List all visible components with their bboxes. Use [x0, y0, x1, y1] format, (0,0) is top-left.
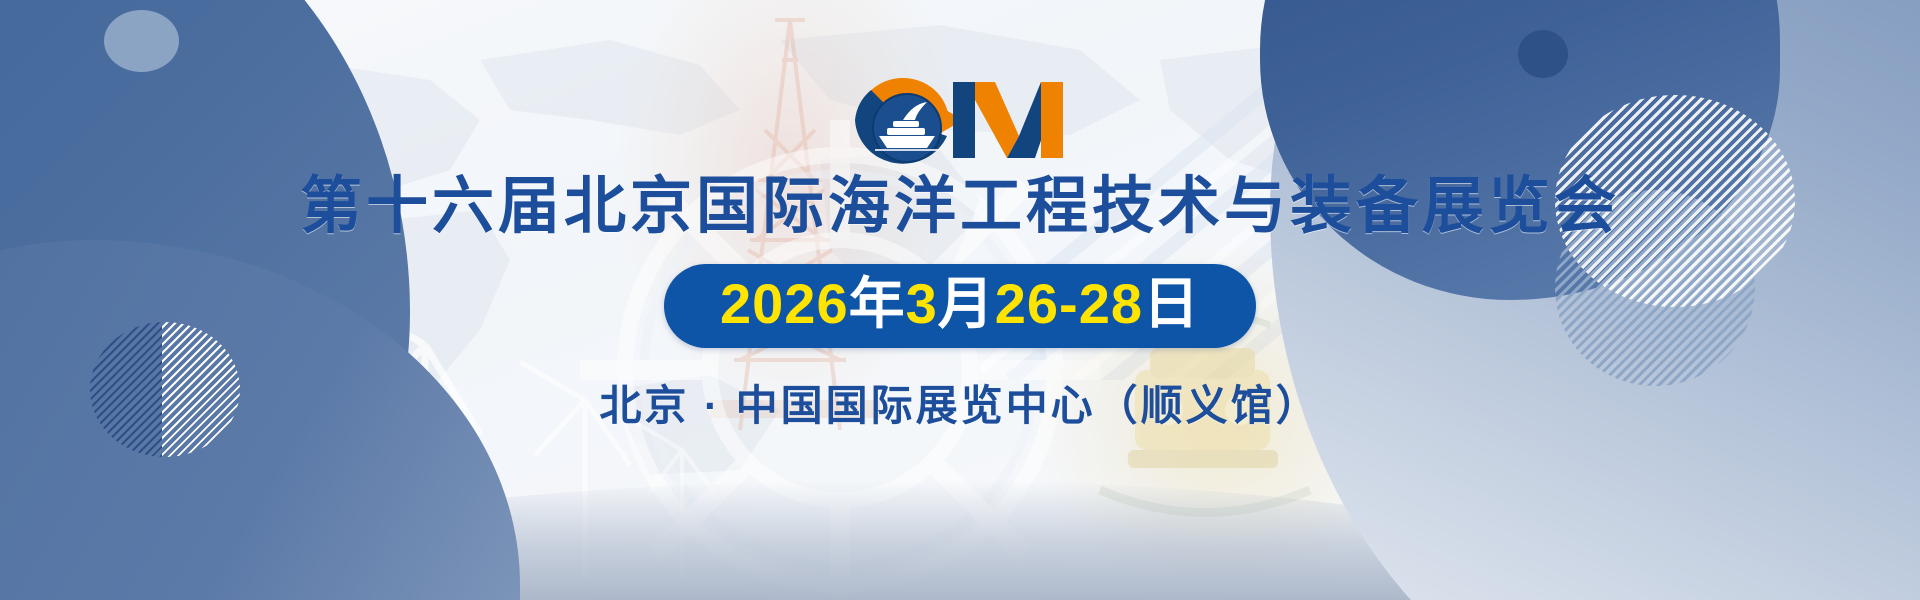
cm-logo-graphic	[835, 62, 1085, 170]
banner-content: 第十六届北京国际海洋工程技术与装备展览会 2026 年 3 月 26-28 日 …	[0, 0, 1920, 600]
exhibition-banner: 第十六届北京国际海洋工程技术与装备展览会 2026 年 3 月 26-28 日 …	[0, 0, 1920, 600]
date-year-unit: 年	[849, 272, 906, 336]
date-day-unit: 日	[1143, 272, 1200, 336]
page-title: 第十六届北京国际海洋工程技术与装备展览会	[300, 176, 1620, 238]
date-month: 3	[906, 272, 938, 336]
date-days: 26-28	[995, 272, 1143, 336]
cm-logo	[835, 62, 1085, 170]
venue-text: 北京 · 中国国际展览中心（顺义馆）	[599, 372, 1320, 433]
date-year: 2026	[720, 272, 849, 336]
date-month-unit: 月	[938, 272, 995, 336]
date-badge: 2026 年 3 月 26-28 日	[664, 264, 1256, 348]
